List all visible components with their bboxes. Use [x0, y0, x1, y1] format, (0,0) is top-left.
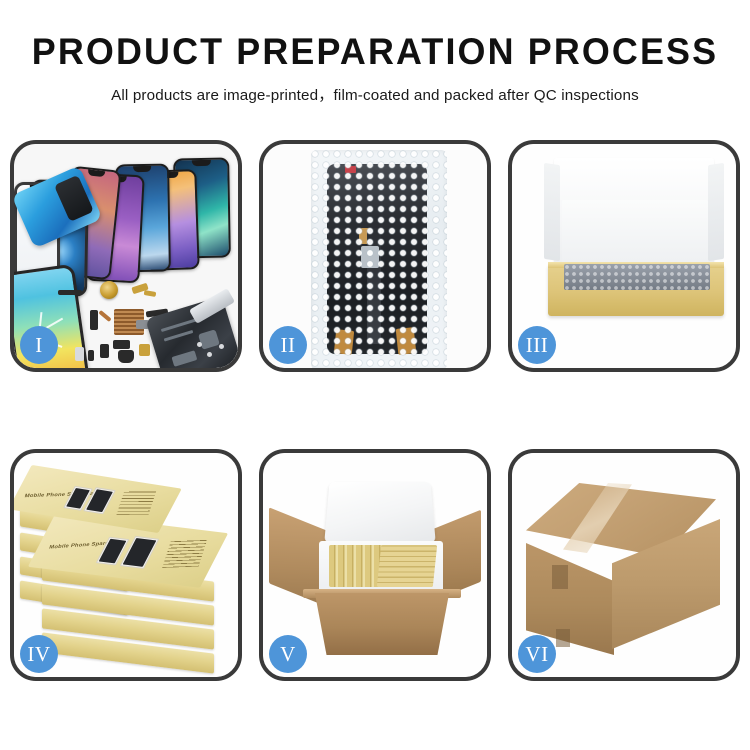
step-badge-2: II: [269, 326, 307, 364]
spare-part-icon: [113, 340, 130, 349]
box-spec-lines: [116, 490, 156, 514]
process-steps-grid: I II III: [10, 140, 740, 681]
step-panel-6[interactable]: VI: [508, 449, 740, 681]
step-badge-3: III: [518, 326, 556, 364]
page-title: PRODUCT PREPARATION PROCESS: [11, 30, 739, 74]
page-header: PRODUCT PREPARATION PROCESS All products…: [0, 0, 750, 105]
screw-icon: [219, 344, 224, 349]
step-badge-1: I: [20, 326, 58, 364]
step-panel-5[interactable]: V: [259, 449, 491, 681]
speaker-module-icon: [100, 281, 118, 299]
spare-part-icon: [90, 310, 98, 330]
page-subtitle: All products are image-printed，film-coat…: [0, 83, 750, 105]
step-panel-1[interactable]: I: [10, 140, 242, 372]
foam-lid-icon: [324, 482, 436, 543]
spare-part-icon: [58, 290, 82, 295]
step-panel-4[interactable]: Mobile Phone Spare Parts Mobile Phone Sp…: [10, 449, 242, 681]
phone-notch-icon: [133, 166, 151, 172]
phone-notch-icon: [88, 169, 105, 177]
step-badge-6: VI: [518, 635, 556, 673]
carton-front-panel-icon: [309, 593, 455, 655]
step-badge-5: V: [269, 635, 307, 673]
step-panel-3[interactable]: III: [508, 140, 740, 372]
carton-seam: [552, 565, 568, 589]
spare-part-icon: [75, 347, 84, 361]
spare-part-icon: [118, 350, 134, 363]
spare-part-icon: [88, 350, 94, 361]
bubble-texture-overlay: [311, 150, 447, 368]
step-panel-2[interactable]: II: [259, 140, 491, 372]
phone-notch-icon: [192, 160, 211, 166]
screw-icon: [207, 352, 212, 357]
carton-seam: [556, 629, 570, 647]
spare-part-icon: [100, 344, 109, 358]
foam-sheet-icon: [562, 200, 708, 266]
gold-boxes-inside-icon: [377, 545, 437, 587]
box-spec-lines: [162, 538, 208, 568]
step-badge-4: IV: [20, 635, 58, 673]
screw-icon: [197, 342, 202, 347]
bubble-wrapped-contents-icon: [564, 264, 710, 290]
spare-part-icon: [139, 344, 150, 356]
